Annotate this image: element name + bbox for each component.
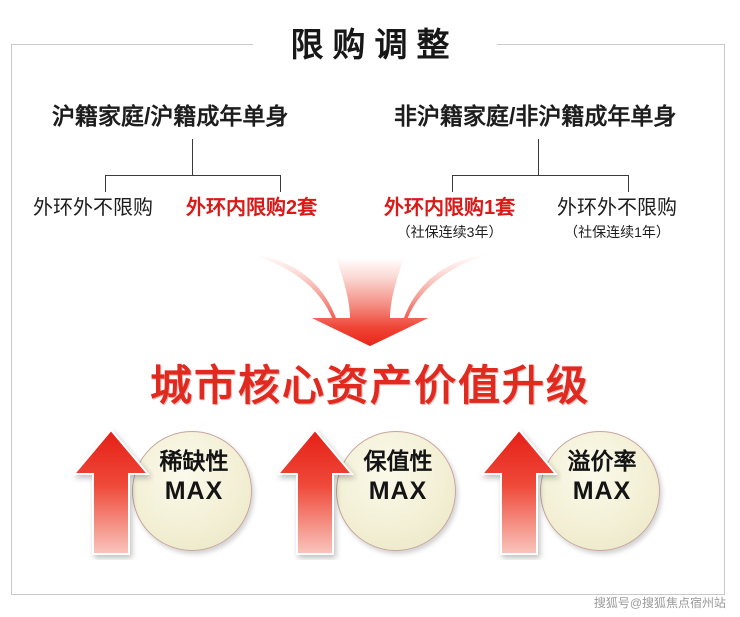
headline-text: 城市核心资产价值升级 (0, 352, 740, 413)
category-header-local: 沪籍家庭/沪籍成年单身 (52, 97, 288, 131)
policy-note: （社保连续3年） (384, 224, 515, 240)
pillar-label: 稀缺性 MAX (142, 448, 246, 507)
connector-bar-local (105, 175, 280, 176)
policy-text: 外环外不限购 (33, 197, 153, 219)
policy-label-outer-ring-nonlocal: 外环外不限购 （社保连续1年） (557, 197, 677, 240)
connector-stem-nonlocal (538, 139, 539, 175)
pillar-label-max: MAX (550, 477, 654, 507)
watermark-text: 搜狐号@搜狐焦点宿州站 (594, 594, 726, 611)
pillar-label-max: MAX (346, 477, 450, 507)
pillar-label-cn: 稀缺性 (142, 448, 246, 475)
pillar-label: 保值性 MAX (346, 448, 450, 507)
policy-label-inner-ring-local: 外环内限购2套 (186, 197, 317, 224)
connector-bar-nonlocal (452, 175, 628, 176)
policy-label-inner-ring-nonlocal: 外环内限购1套 （社保连续3年） (384, 197, 515, 240)
policy-text: 外环内限购1套 (384, 197, 515, 219)
policy-note: （社保连续1年） (557, 224, 677, 240)
connector-tick-nonlocal-2 (628, 175, 629, 192)
pillar-scarcity: 稀缺性 MAX (68, 420, 268, 560)
connector-tick-nonlocal-1 (452, 175, 453, 192)
pillar-label-cn: 保值性 (346, 448, 450, 475)
pillar-label: 溢价率 MAX (550, 448, 654, 507)
policy-label-outer-ring-local: 外环外不限购 (33, 197, 153, 224)
pillar-label-cn: 溢价率 (550, 448, 654, 475)
pillar-premium-rate: 溢价率 MAX (476, 420, 676, 560)
connector-tick-local-2 (280, 175, 281, 192)
page-title: 限购调整 (0, 18, 740, 66)
pillars-group: 稀缺性 MAX 保值性 MAX (0, 420, 740, 560)
policy-text: 外环内限购2套 (186, 197, 317, 219)
pillar-value-retention: 保值性 MAX (272, 420, 472, 560)
category-header-nonlocal: 非沪籍家庭/非沪籍成年单身 (394, 97, 676, 131)
pillar-label-max: MAX (142, 477, 246, 507)
connector-tick-local-1 (105, 175, 106, 192)
connector-stem-local (192, 139, 193, 175)
funnel-down-arrow-icon (246, 252, 494, 346)
policy-text: 外环外不限购 (557, 197, 677, 219)
